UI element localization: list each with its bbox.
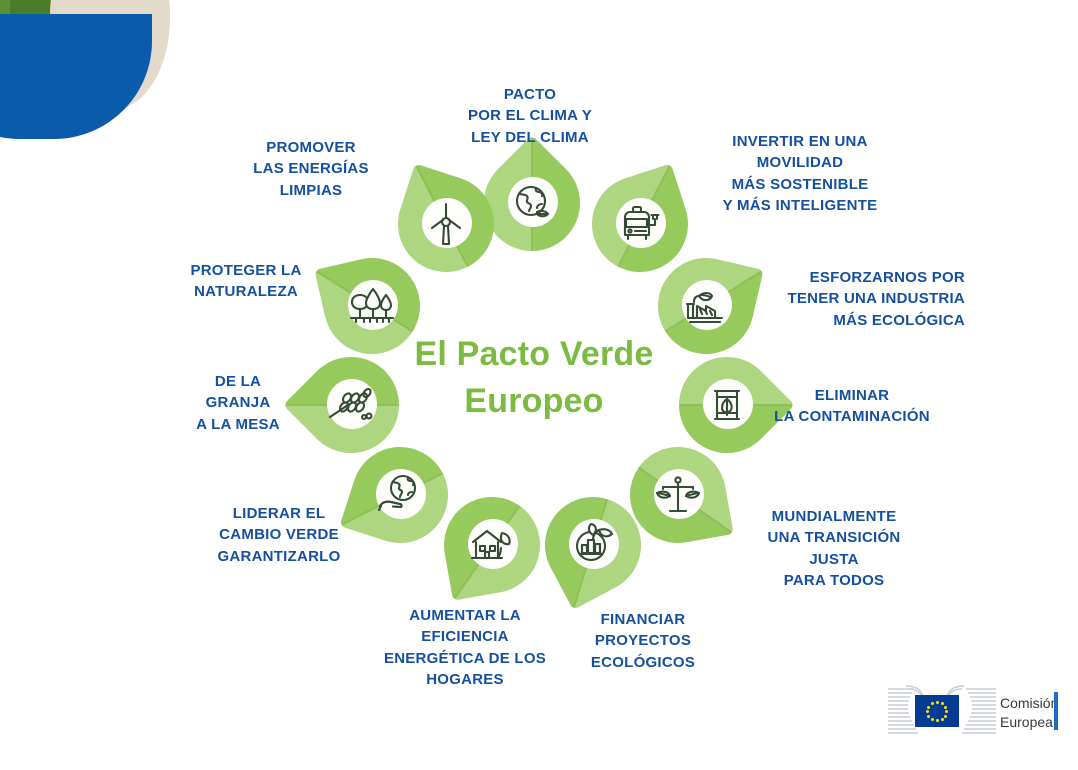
hand-holding-earth-icon <box>352 447 448 543</box>
eu-commission-logo: Comisión Europea <box>888 685 1048 743</box>
label-eficiencia-hogares: AUMENTAR LA EFICIENCIA ENERGÉTICA DE LOS… <box>340 605 590 690</box>
leaf-liderar-cambio-verde[interactable] <box>352 447 448 543</box>
eco-house-icon <box>444 497 540 593</box>
label-financiar-proyectos: FINANCIAR PROYECTOS ECOLÓGICOS <box>555 609 731 673</box>
label-liderar-cambio-verde: LIDERAR EL CAMBIO VERDE GARANTIZARLO <box>194 503 364 567</box>
label-pacto-clima: PACTO POR EL CLIMA Y LEY DEL CLIMA <box>430 84 630 148</box>
label-transicion-justa: MUNDIALMENTE UNA TRANSICIÓN JUSTA PARA T… <box>742 506 926 591</box>
label-granja-mesa: DE LA GRANJA A LA MESA <box>170 371 306 435</box>
eu-flag-icon <box>915 695 959 727</box>
eu-commission-label: Comisión Europea <box>1000 694 1058 731</box>
label-industria-ecologica: ESFORZARNOS POR TENER UNA INDUSTRIA MÁS … <box>727 267 965 331</box>
eu-logo-accent-bar <box>1054 692 1058 730</box>
leaf-pacto-clima[interactable] <box>484 155 580 251</box>
trees-icon <box>324 258 420 354</box>
page-title-line-1: El Pacto Verde <box>389 331 679 378</box>
leaf-transicion-justa[interactable] <box>630 447 726 543</box>
decorative-blob-blue <box>0 14 152 139</box>
page-title-line-2: Europeo <box>389 378 679 425</box>
leaf-eficiencia-hogares[interactable] <box>444 497 540 593</box>
label-proteger-naturaleza: PROTEGER LA NATURALEZA <box>166 260 326 303</box>
green-investment-coins-icon <box>545 497 641 593</box>
globe-leaf-icon <box>484 155 580 251</box>
wheat-ear-icon <box>303 357 399 453</box>
leaf-granja-mesa[interactable] <box>303 357 399 453</box>
leaf-proteger-naturaleza[interactable] <box>324 258 420 354</box>
label-energias-limpias: PROMOVER LAS ENERGÍAS LIMPIAS <box>216 137 406 201</box>
label-eliminar-contaminacion: ELIMINAR LA CONTAMINACIÓN <box>761 385 943 428</box>
label-movilidad: INVERTIR EN UNA MOVILIDAD MÁS SOSTENIBLE… <box>695 131 905 216</box>
balance-scales-leaf-icon <box>630 447 726 543</box>
infographic-canvas: El Pacto Verde Europeo <box>0 0 1078 770</box>
leaf-financiar-proyectos[interactable] <box>545 497 641 593</box>
page-title: El Pacto Verde Europeo <box>389 331 679 424</box>
